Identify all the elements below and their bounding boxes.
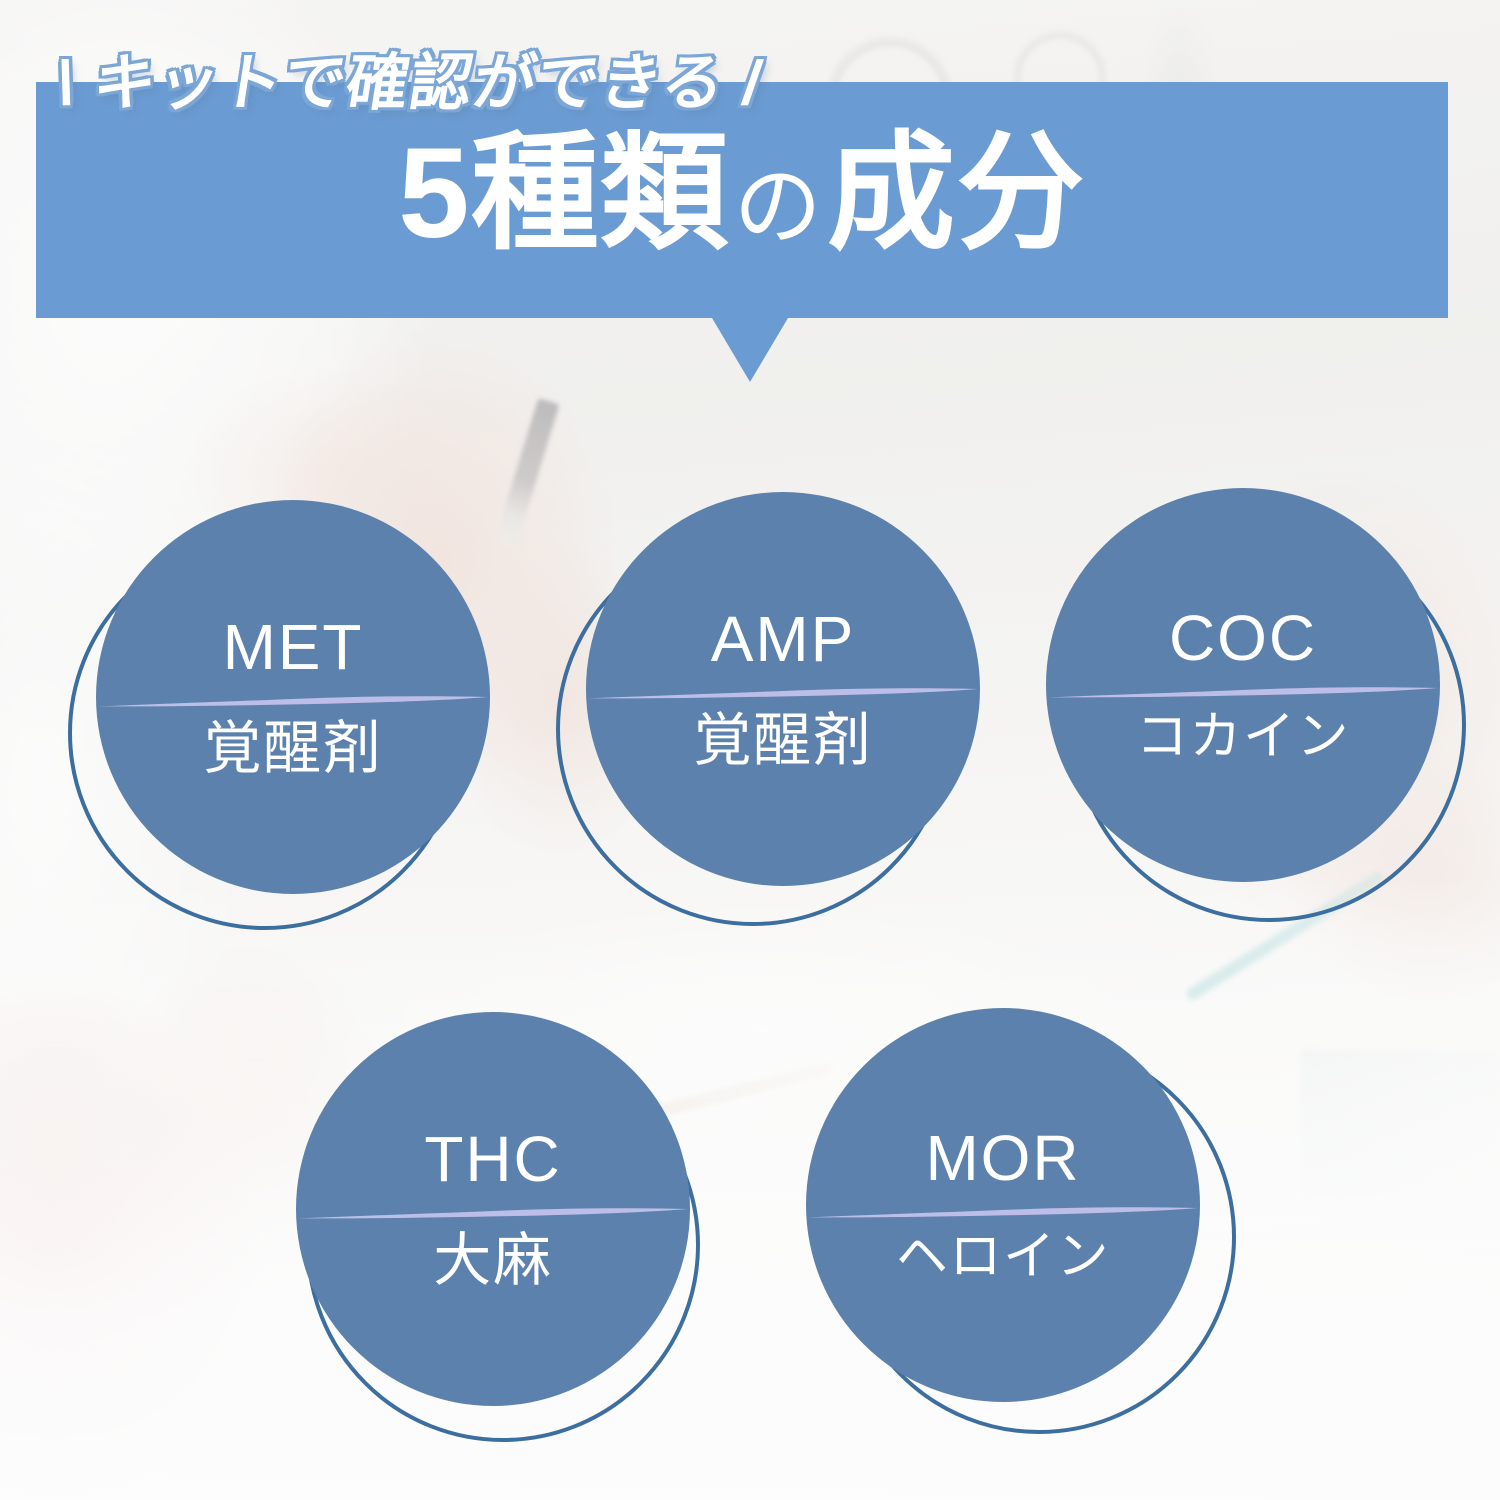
badge-japanese-label: コカイン — [1136, 710, 1350, 765]
substance-badge-amp[interactable]: AMP 覚醒剤 — [556, 492, 1016, 922]
brush-stroke-divider-icon — [1046, 684, 1440, 700]
badge-japanese-label: 大麻 — [433, 1231, 552, 1292]
title-particle: の — [734, 157, 823, 256]
badge-content: THC 大麻 — [296, 1012, 690, 1406]
badge-code: MOR — [925, 1126, 1080, 1190]
substance-badge-met[interactable]: MET 覚醒剤 — [68, 500, 528, 930]
header-banner-tail-icon — [712, 318, 788, 382]
brush-stroke-divider-icon — [296, 1205, 690, 1221]
substance-badge-coc[interactable]: COC コカイン — [1046, 488, 1500, 928]
badge-content: MET 覚醒剤 — [96, 500, 490, 894]
badge-code: THC — [424, 1127, 561, 1191]
substance-badge-mor[interactable]: MOR ヘロイン — [806, 1008, 1226, 1438]
badge-code: MET — [223, 615, 364, 679]
title-count: 5種類 — [398, 122, 729, 265]
brush-stroke-divider-icon — [806, 1204, 1200, 1220]
badge-code: COC — [1169, 606, 1317, 670]
badge-japanese-label: 覚醒剤 — [693, 711, 872, 772]
brush-stroke-divider-icon — [586, 685, 980, 701]
header-kicker: \ キットで確認ができる / — [51, 32, 770, 122]
poster-canvas: \ キットで確認ができる / 5種類 の 成分 MET 覚醒剤 AMP — [0, 0, 1500, 1500]
brush-stroke-divider-icon — [96, 693, 490, 709]
substance-badge-thc[interactable]: THC 大麻 — [296, 1012, 716, 1442]
badge-content: AMP 覚醒剤 — [586, 492, 980, 886]
page-title: 5種類 の 成分 — [36, 130, 1448, 258]
badge-japanese-label: 覚醒剤 — [203, 719, 382, 780]
badge-content: COC コカイン — [1046, 488, 1440, 882]
badge-japanese-label: ヘロイン — [896, 1230, 1110, 1285]
badge-content: MOR ヘロイン — [806, 1008, 1200, 1402]
title-noun: 成分 — [827, 122, 1086, 265]
kicker-label: キットで確認ができる — [88, 49, 730, 118]
badge-code: AMP — [711, 607, 855, 671]
